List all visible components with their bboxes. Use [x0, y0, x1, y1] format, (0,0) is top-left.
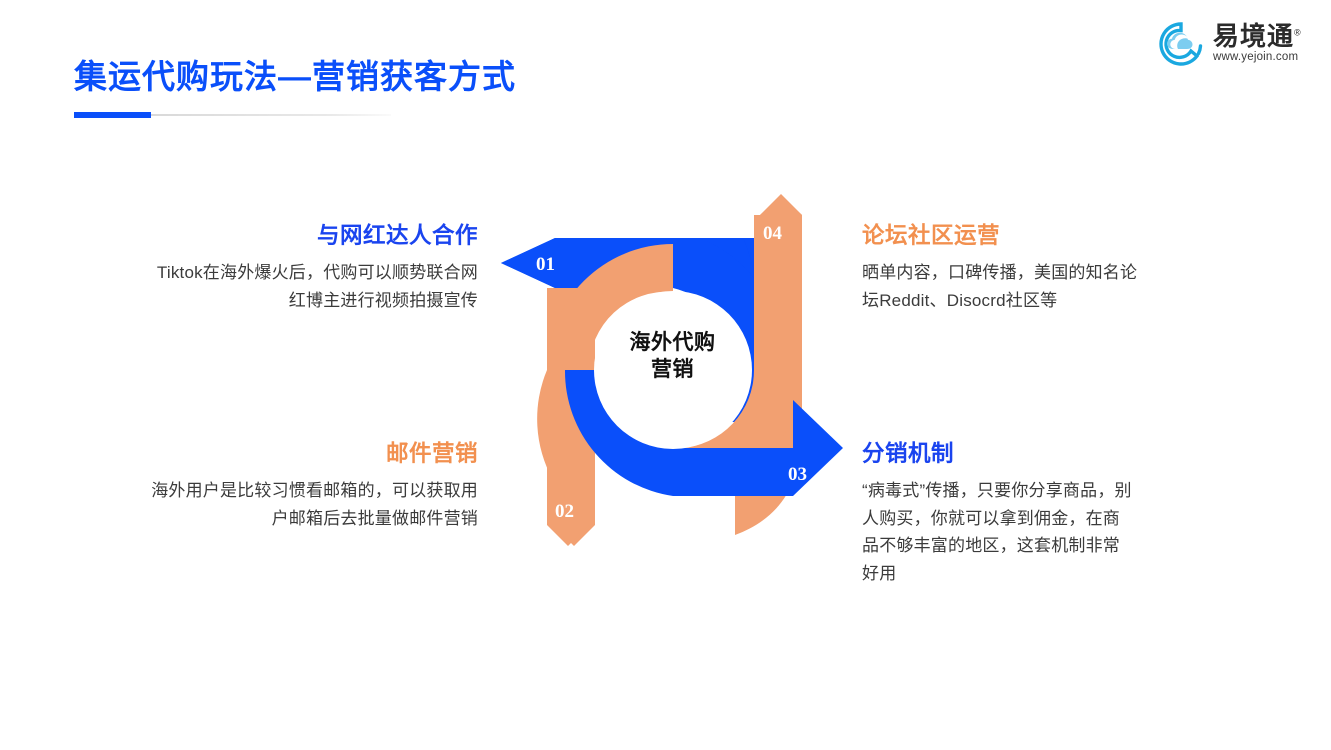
diagram-number-01: 01 — [536, 254, 555, 275]
pinwheel-diagram: 01 02 03 04 海外代购 营销 — [495, 190, 850, 550]
diagram-center-line-2: 营销 — [605, 357, 740, 384]
diagram-number-03: 03 — [788, 464, 807, 485]
item-03-heading: 分销机制 — [862, 440, 1134, 467]
diagram-center-label: 海外代购 营销 — [605, 330, 740, 384]
item-04: 论坛社区运营 晒单内容，口碑传播，美国的知名论坛Reddit、Disocrd社区… — [862, 222, 1142, 314]
diagram-center-line-1: 海外代购 — [605, 330, 740, 357]
item-04-body: 晒单内容，口碑传播，美国的知名论坛Reddit、Disocrd社区等 — [862, 259, 1142, 314]
title-underline — [74, 112, 391, 118]
item-04-heading: 论坛社区运营 — [862, 222, 1142, 249]
item-02-heading: 邮件营销 — [150, 440, 478, 467]
title-underline-accent — [74, 112, 151, 118]
page-title: 集运代购玩法—营销获客方式 — [74, 50, 516, 98]
brand-name: 易境通® — [1213, 23, 1302, 50]
brand-url: www.yejoin.com — [1213, 51, 1302, 65]
item-03: 分销机制 “病毒式”传播，只要你分享商品，别人购买，你就可以拿到佣金，在商品不够… — [862, 440, 1134, 587]
cloud-circle-logo-icon — [1157, 20, 1205, 68]
diagram-number-04: 04 — [763, 223, 783, 244]
brand-logo: 易境通® www.yejoin.com — [1157, 16, 1317, 72]
item-03-body: “病毒式”传播，只要你分享商品，别人购买，你就可以拿到佣金，在商品不够丰富的地区… — [862, 477, 1134, 587]
item-01: 与网红达人合作 Tiktok在海外爆火后，代购可以顺势联合网红博主进行视频拍摄宣… — [150, 222, 478, 314]
item-01-heading: 与网红达人合作 — [150, 222, 478, 249]
title-underline-trail — [151, 114, 391, 116]
registered-mark-icon: ® — [1294, 27, 1302, 37]
item-01-body: Tiktok在海外爆火后，代购可以顺势联合网红博主进行视频拍摄宣传 — [150, 259, 478, 314]
item-02: 邮件营销 海外用户是比较习惯看邮箱的，可以获取用户邮箱后去批量做邮件营销 — [150, 440, 478, 532]
diagram-number-02: 02 — [555, 501, 574, 522]
item-02-body: 海外用户是比较习惯看邮箱的，可以获取用户邮箱后去批量做邮件营销 — [150, 477, 478, 532]
